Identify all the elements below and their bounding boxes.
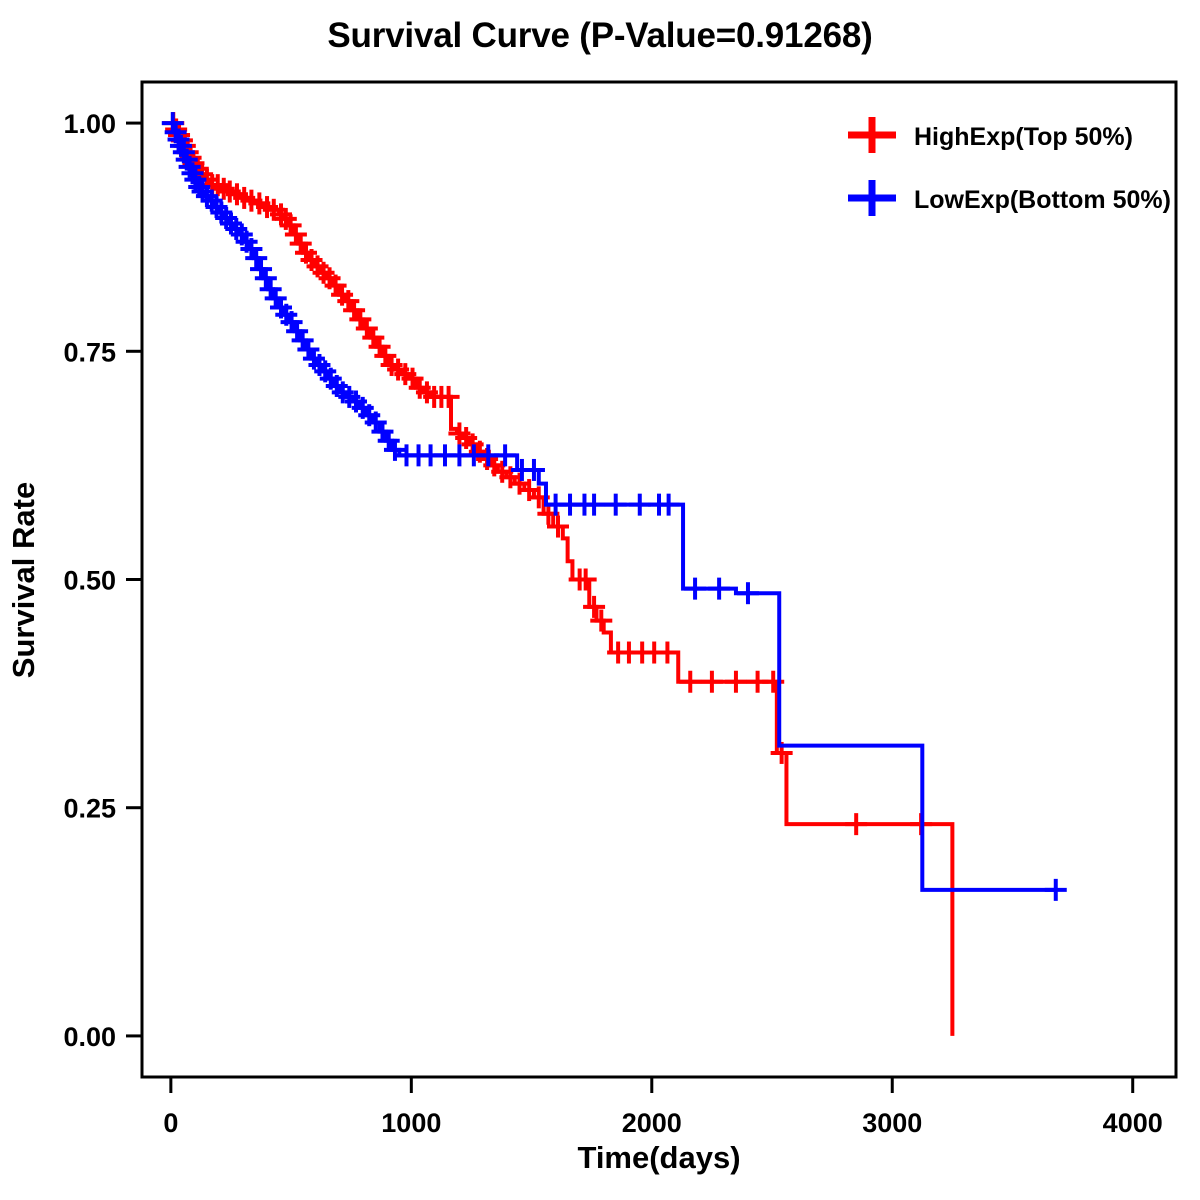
chart-legend[interactable]: HighExp(Top 50%)LowExp(Bottom 50%) (848, 117, 1171, 216)
y-tick-label: 0.50 (63, 566, 116, 596)
series-layer (162, 112, 1067, 1036)
survival-plot: 01000200030004000 0.000.250.500.751.00 H… (0, 0, 1200, 1200)
y-tick-label: 0.00 (63, 1022, 116, 1052)
legend-label: HighExp(Top 50%) (914, 123, 1133, 151)
x-tick-label: 2000 (622, 1108, 682, 1138)
legend-item-high-exp[interactable]: HighExp(Top 50%) (848, 117, 1133, 153)
x-tick-label: 4000 (1103, 1108, 1163, 1138)
x-tick-label: 1000 (381, 1108, 441, 1138)
x-axis-ticks: 01000200030004000 (163, 1077, 1162, 1138)
survival-curve-figure: Survival Curve (P-Value=0.91268) 0100020… (0, 0, 1200, 1200)
y-tick-label: 1.00 (63, 109, 116, 139)
km-step-line (171, 123, 953, 1036)
series-high-exp (162, 112, 952, 1036)
legend-label: LowExp(Bottom 50%) (914, 186, 1171, 214)
y-tick-label: 0.25 (63, 794, 116, 824)
y-axis-title: Survival Rate (6, 482, 41, 678)
x-tick-label: 0 (163, 1108, 178, 1138)
legend-item-low-exp[interactable]: LowExp(Bottom 50%) (848, 180, 1171, 216)
x-axis-title: Time(days) (577, 1140, 740, 1175)
y-axis-ticks: 0.000.250.500.751.00 (63, 109, 142, 1052)
y-tick-label: 0.75 (63, 337, 116, 367)
x-tick-label: 3000 (862, 1108, 922, 1138)
